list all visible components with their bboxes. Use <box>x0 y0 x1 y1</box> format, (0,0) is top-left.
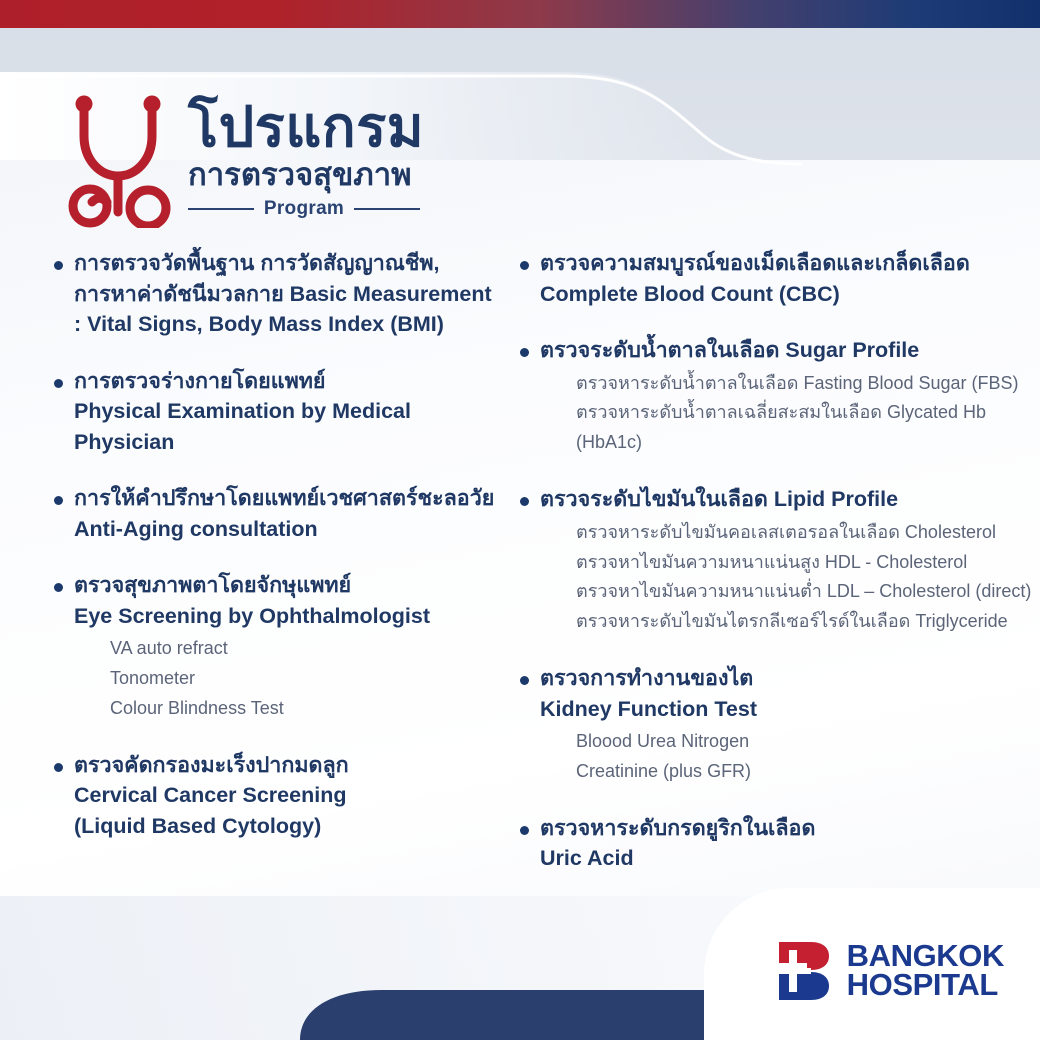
bangkok-hospital-wordmark: BANGKOK HOSPITAL <box>847 942 1004 1000</box>
program-item-title: ตรวจคัดกรองมะเร็งปากมดลูกCervical Cancer… <box>74 750 349 842</box>
program-item-title: การตรวจวัดพื้นฐาน การวัดสัญญาณชีพ,การหาค… <box>74 248 492 340</box>
program-item-line: Uric Acid <box>540 843 815 874</box>
program-item-heading: การให้คำปรึกษาโดยแพทย์เวชศาสตร์ชะลอวัยAn… <box>54 483 500 544</box>
program-item-heading: ตรวจสุขภาพตาโดยจักษุแพทย์Eye Screening b… <box>54 570 500 631</box>
bullet-icon <box>520 348 529 357</box>
program-item-title: ตรวจสุขภาพตาโดยจักษุแพทย์Eye Screening b… <box>74 570 430 631</box>
bullet-icon <box>54 496 63 505</box>
right-column: ตรวจความสมบูรณ์ของเม็ดเลือดและเกล็ดเลือด… <box>500 248 1040 900</box>
divider-right <box>354 208 420 210</box>
header-text-block: โปรแกรม การตรวจสุขภาพ Program <box>188 96 424 220</box>
page-title-thai: โปรแกรม <box>188 100 424 155</box>
program-item-line: Complete Blood Count (CBC) <box>540 279 970 310</box>
program-item-line: Physical Examination by Medical Physicia… <box>74 396 500 457</box>
divider-left <box>188 208 254 210</box>
program-item: ตรวจคัดกรองมะเร็งปากมดลูกCervical Cancer… <box>54 750 500 842</box>
program-item-title: การตรวจร่างกายโดยแพทย์Physical Examinati… <box>74 366 500 458</box>
program-item-heading: ตรวจความสมบูรณ์ของเม็ดเลือดและเกล็ดเลือด… <box>514 248 1040 309</box>
program-item: ตรวจหาระดับกรดยูริกในเลือดUric Acid <box>514 813 1040 874</box>
bullet-icon <box>520 826 529 835</box>
program-item: การตรวจร่างกายโดยแพทย์Physical Examinati… <box>54 366 500 458</box>
program-content: การตรวจวัดพื้นฐาน การวัดสัญญาณชีพ,การหาค… <box>0 248 1040 900</box>
program-item-heading: ตรวจระดับไขมันในเลือด Lipid Profile <box>514 484 1040 515</box>
bullet-icon <box>54 763 63 772</box>
program-sub-item: ตรวจหาระดับน้ำตาลในเลือด Fasting Blood S… <box>576 369 1040 399</box>
program-item: การตรวจวัดพื้นฐาน การวัดสัญญาณชีพ,การหาค… <box>54 248 500 340</box>
program-sub-item: VA auto refract <box>110 634 500 664</box>
program-header: โปรแกรม การตรวจสุขภาพ Program <box>66 88 424 228</box>
program-item-heading: การตรวจร่างกายโดยแพทย์Physical Examinati… <box>54 366 500 458</box>
logo-line-2: HOSPITAL <box>847 971 1004 1000</box>
program-item-heading: ตรวจระดับน้ำตาลในเลือด Sugar Profile <box>514 335 1040 366</box>
program-sub-item: ตรวจหาไขมันความหนาแน่นต่ำ LDL – Choleste… <box>576 577 1040 607</box>
program-sub-item: Creatinine (plus GFR) <box>576 757 1040 787</box>
program-item-line: ตรวจคัดกรองมะเร็งปากมดลูก <box>74 750 349 781</box>
program-item-title: ตรวจระดับไขมันในเลือด Lipid Profile <box>540 484 898 515</box>
program-sub-list: VA auto refractTonometerColour Blindness… <box>54 634 500 724</box>
left-column: การตรวจวัดพื้นฐาน การวัดสัญญาณชีพ,การหาค… <box>0 248 500 900</box>
program-sub-item: ตรวจหาระดับน้ำตาลเฉลี่ยสะสมในเลือด Glyca… <box>576 398 1040 458</box>
program-item-line: การตรวจร่างกายโดยแพทย์ <box>74 366 500 397</box>
program-item-title: ตรวจระดับน้ำตาลในเลือด Sugar Profile <box>540 335 919 366</box>
top-gradient-bar <box>0 0 1040 28</box>
program-sub-item: ตรวจหาไขมันความหนาแน่นสูง HDL - Choleste… <box>576 548 1040 578</box>
program-item-heading: ตรวจคัดกรองมะเร็งปากมดลูกCervical Cancer… <box>54 750 500 842</box>
bullet-icon <box>54 261 63 270</box>
program-item-title: ตรวจหาระดับกรดยูริกในเลือดUric Acid <box>540 813 815 874</box>
page-subtitle-thai: การตรวจสุขภาพ <box>188 157 424 194</box>
program-sub-item: ตรวจหาระดับไขมันคอเลสเตอรอลในเลือด Chole… <box>576 518 1040 548</box>
program-item-line: : Vital Signs, Body Mass Index (BMI) <box>74 309 492 340</box>
program-divider-row: Program <box>188 198 420 220</box>
bangkok-hospital-b-cross-mark <box>775 940 835 1002</box>
bullet-icon <box>520 497 529 506</box>
program-item: ตรวจระดับไขมันในเลือด Lipid Profileตรวจห… <box>514 484 1040 637</box>
program-item-line: ตรวจระดับน้ำตาลในเลือด Sugar Profile <box>540 335 919 366</box>
program-sub-list: ตรวจหาระดับน้ำตาลในเลือด Fasting Blood S… <box>514 369 1040 459</box>
program-item-line: Eye Screening by Ophthalmologist <box>74 601 430 632</box>
program-label: Program <box>264 198 344 220</box>
program-sub-item: Bloood Urea Nitrogen <box>576 727 1040 757</box>
program-sub-item: Colour Blindness Test <box>110 694 500 724</box>
program-item-line: ตรวจความสมบูรณ์ของเม็ดเลือดและเกล็ดเลือด <box>540 248 970 279</box>
program-item-title: ตรวจการทำงานของไตKidney Function Test <box>540 663 757 724</box>
program-item-title: ตรวจความสมบูรณ์ของเม็ดเลือดและเกล็ดเลือด… <box>540 248 970 309</box>
program-item-line: (Liquid Based Cytology) <box>74 811 349 842</box>
program-item-line: Kidney Function Test <box>540 694 757 725</box>
program-sub-item: ตรวจหาระดับไขมันไตรกลีเซอร์ไรด์ในเลือด T… <box>576 607 1040 637</box>
bullet-icon <box>520 676 529 685</box>
bullet-icon <box>54 379 63 388</box>
program-sub-item: Tonometer <box>110 664 500 694</box>
stethoscope-icon <box>66 88 174 228</box>
program-item-line: การให้คำปรึกษาโดยแพทย์เวชศาสตร์ชะลอวัย <box>74 483 494 514</box>
program-item-title: การให้คำปรึกษาโดยแพทย์เวชศาสตร์ชะลอวัยAn… <box>74 483 494 544</box>
bullet-icon <box>54 583 63 592</box>
program-sub-list: ตรวจหาระดับไขมันคอเลสเตอรอลในเลือด Chole… <box>514 518 1040 638</box>
program-item: ตรวจสุขภาพตาโดยจักษุแพทย์Eye Screening b… <box>54 570 500 724</box>
program-item-heading: ตรวจการทำงานของไตKidney Function Test <box>514 663 1040 724</box>
program-item-heading: ตรวจหาระดับกรดยูริกในเลือดUric Acid <box>514 813 1040 874</box>
program-item-line: ตรวจการทำงานของไต <box>540 663 757 694</box>
program-item-line: Anti-Aging consultation <box>74 514 494 545</box>
bullet-icon <box>520 261 529 270</box>
program-item: ตรวจระดับน้ำตาลในเลือด Sugar Profileตรวจ… <box>514 335 1040 458</box>
program-sub-list: Bloood Urea NitrogenCreatinine (plus GFR… <box>514 727 1040 787</box>
health-checkup-program-poster: โปรแกรม การตรวจสุขภาพ Program การตรวจวัด… <box>0 0 1040 1040</box>
program-item-line: Cervical Cancer Screening <box>74 780 349 811</box>
bangkok-hospital-logo: BANGKOK HOSPITAL <box>775 940 1004 1002</box>
program-item-line: ตรวจหาระดับกรดยูริกในเลือด <box>540 813 815 844</box>
program-item: ตรวจการทำงานของไตKidney Function TestBlo… <box>514 663 1040 787</box>
program-item-line: การหาค่าดัชนีมวลกาย Basic Measurement <box>74 279 492 310</box>
program-item-line: การตรวจวัดพื้นฐาน การวัดสัญญาณชีพ, <box>74 248 492 279</box>
program-item-line: ตรวจสุขภาพตาโดยจักษุแพทย์ <box>74 570 430 601</box>
program-item-heading: การตรวจวัดพื้นฐาน การวัดสัญญาณชีพ,การหาค… <box>54 248 500 340</box>
program-item: การให้คำปรึกษาโดยแพทย์เวชศาสตร์ชะลอวัยAn… <box>54 483 500 544</box>
program-item-line: ตรวจระดับไขมันในเลือด Lipid Profile <box>540 484 898 515</box>
program-item: ตรวจความสมบูรณ์ของเม็ดเลือดและเกล็ดเลือด… <box>514 248 1040 309</box>
